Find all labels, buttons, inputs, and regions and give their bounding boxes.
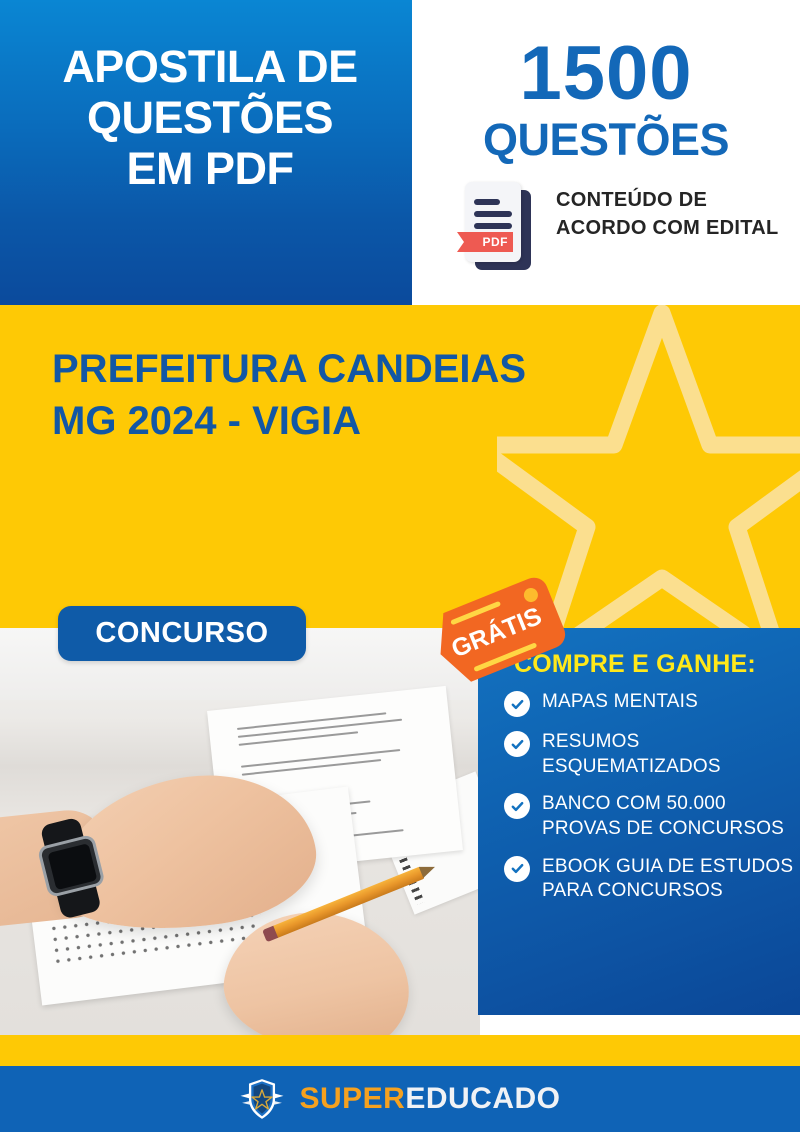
pdf-icon-text-line xyxy=(474,223,512,229)
list-item: RESUMOS ESQUEMATIZADOS xyxy=(504,730,794,779)
concurso-badge[interactable]: CONCURSO xyxy=(58,606,306,661)
check-icon xyxy=(504,793,530,819)
list-item: MAPAS MENTAIS xyxy=(504,690,794,717)
list-item: EBOOK GUIA DE ESTUDOS PARA CONCURSOS xyxy=(504,855,794,904)
exam-title-line-2: MG 2024 - VIGIA xyxy=(52,395,732,447)
page-title-line-1: APOSTILA DE xyxy=(30,42,390,93)
question-count-label: QUESTÕES xyxy=(412,117,800,162)
question-count: 1500 xyxy=(412,36,800,112)
pdf-icon-text-line xyxy=(474,211,512,217)
exam-title: PREFEITURA CANDEIAS MG 2024 - VIGIA xyxy=(52,343,732,447)
page-title-line-2: QUESTÕES xyxy=(30,93,390,144)
page-title-line-3: EM PDF xyxy=(30,144,390,195)
brand-footer: SUPEREDUCADO xyxy=(0,1066,800,1132)
exam-title-line-1: PREFEITURA CANDEIAS xyxy=(52,343,732,395)
watch-screen xyxy=(47,843,97,890)
header-section: APOSTILA DE QUESTÕES EM PDF 1500 QUESTÕE… xyxy=(0,0,800,305)
pdf-document-icon: PDF xyxy=(461,182,537,276)
benefits-title: COMPRE E GANHE: xyxy=(514,650,756,679)
benefit-label: BANCO COM 50.000 PROVAS DE CONCURSOS xyxy=(542,792,794,841)
check-icon xyxy=(504,856,530,882)
benefits-list: MAPAS MENTAIS RESUMOS ESQUEMATIZADOS BAN… xyxy=(504,690,794,917)
benefit-label: MAPAS MENTAIS xyxy=(542,690,698,715)
concurso-badge-label: CONCURSO xyxy=(95,617,268,650)
list-item: BANCO COM 50.000 PROVAS DE CONCURSOS xyxy=(504,792,794,841)
brand-name-second: EDUCADO xyxy=(405,1082,560,1115)
exam-photo xyxy=(0,628,480,1035)
promo-poster: APOSTILA DE QUESTÕES EM PDF 1500 QUESTÕE… xyxy=(0,0,800,1132)
pdf-icon-text-line xyxy=(474,199,500,205)
pdf-format-ribbon: PDF xyxy=(457,232,513,252)
brand-name: SUPEREDUCADO xyxy=(299,1082,560,1116)
brand-name-first: SUPER xyxy=(299,1082,405,1115)
benefit-label: RESUMOS ESQUEMATIZADOS xyxy=(542,730,794,779)
benefits-panel: COMPRE E GANHE: MAPAS MENTAIS RESUMOS ES… xyxy=(478,628,800,1015)
edital-note: CONTEÚDO DE ACORDO COM EDITAL xyxy=(556,186,796,243)
check-icon xyxy=(504,731,530,757)
page-title: APOSTILA DE QUESTÕES EM PDF xyxy=(30,42,390,195)
check-icon xyxy=(504,691,530,717)
shield-wings-logo-icon xyxy=(239,1077,285,1121)
benefit-label: EBOOK GUIA DE ESTUDOS PARA CONCURSOS xyxy=(542,855,794,904)
